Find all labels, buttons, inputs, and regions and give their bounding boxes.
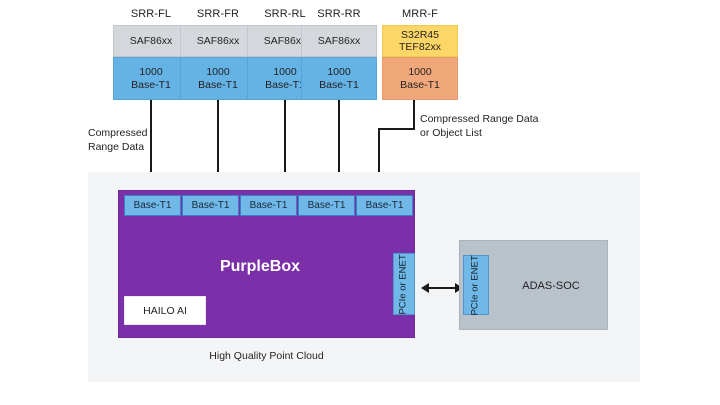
sensor-label-srr-rr: SRR-RR [301, 8, 377, 20]
sensor-chip-srr-fr: SAF86xx [180, 25, 256, 57]
annotation-compressed-range-data: Compressed Range Data [88, 126, 150, 154]
hailo-ai-module[interactable]: HAILO AI [125, 297, 205, 324]
purplebox-port-base-t1-1[interactable]: Base-T1 [124, 195, 181, 216]
annotation-compressed-range-data-or-object-list: Compressed Range Data or Object List [420, 112, 600, 140]
connector-line-mrr-f-horizontal [378, 128, 415, 130]
sensor-phy-srr-fr: 1000 Base-T1 [180, 57, 256, 100]
adas-soc-pcie-enet-port-label: PCIe or ENET [471, 255, 482, 315]
purplebox-port-base-t1-4[interactable]: Base-T1 [298, 195, 355, 216]
adas-soc-title: ADAS-SOC [497, 280, 605, 292]
purplebox-title: PurpleBox [145, 258, 375, 276]
purplebox-pcie-enet-port[interactable]: PCIe or ENET [393, 253, 415, 315]
sensor-chip-mrr-f: S32R45 TEF82xx [382, 25, 458, 57]
sensor-phy-srr-fl: 1000 Base-T1 [113, 57, 189, 100]
sensor-label-srr-fl: SRR-FL [113, 8, 189, 20]
sensor-chip-srr-fl: SAF86xx [113, 25, 189, 57]
diagram-caption: High Quality Point Cloud [118, 350, 415, 362]
link-line-purplebox-adas [428, 287, 456, 289]
diagram-canvas: SRR-FL SAF86xx 1000 Base-T1 SRR-FR SAF86… [0, 0, 720, 405]
purplebox-port-base-t1-5[interactable]: Base-T1 [356, 195, 413, 216]
purplebox-pcie-enet-port-label: PCIe or ENET [399, 254, 410, 314]
sensor-phy-srr-rr: 1000 Base-T1 [301, 57, 377, 100]
connector-line-mrr-f-vertical-upper [413, 100, 415, 130]
adas-soc-pcie-enet-port[interactable]: PCIe or ENET [463, 255, 489, 315]
sensor-label-mrr-f: MRR-F [382, 8, 458, 20]
sensor-chip-srr-rr: SAF86xx [301, 25, 377, 57]
purplebox-port-base-t1-2[interactable]: Base-T1 [182, 195, 239, 216]
sensor-phy-mrr-f: 1000 Base-T1 [382, 57, 458, 100]
sensor-label-srr-fr: SRR-FR [180, 8, 256, 20]
purplebox-port-base-t1-3[interactable]: Base-T1 [240, 195, 297, 216]
